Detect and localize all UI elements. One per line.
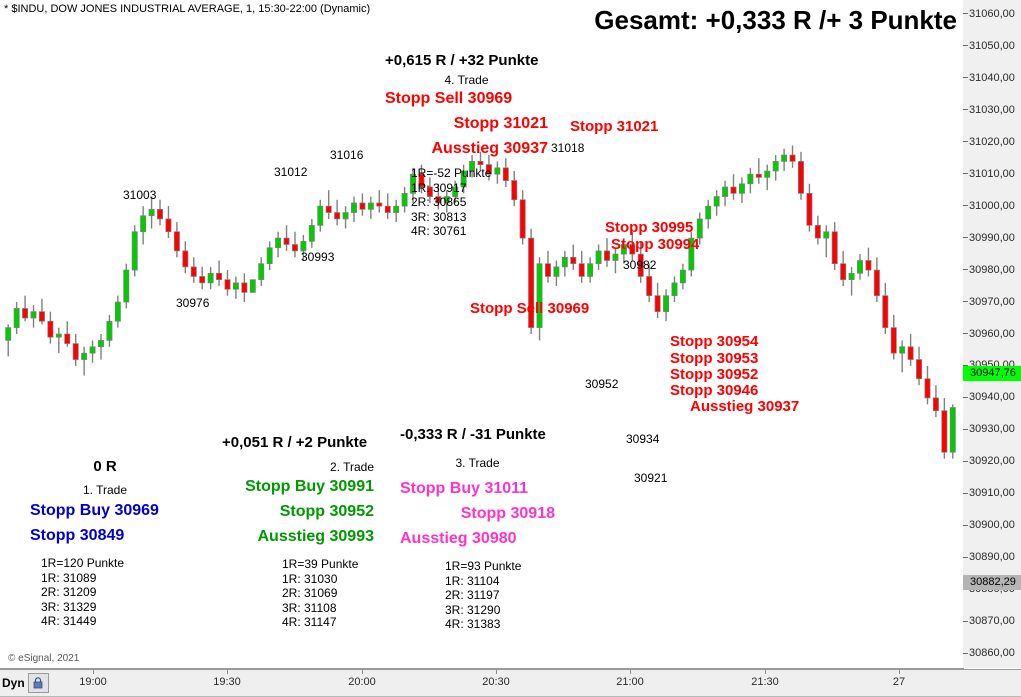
candle-body-up [739,184,744,194]
candle-body-down [647,276,652,295]
trade-4-detail-4: 4R: 30761 [411,224,548,239]
tick-dash [963,237,968,238]
candle-body-up [31,312,36,318]
price-callout-label: 31016 [330,148,363,162]
price-axis-tick: 31060,00 [963,8,1021,21]
copyright-label: © eSignal, 2021 [8,653,79,664]
candle-wick [58,328,59,354]
trade-2-line-1: Stopp 30952 [222,503,374,521]
trade-annotation-3: -0,333 R / -31 Punkte 3. Trade Stopp Buy… [400,426,555,632]
price-callout-label: 30934 [626,432,659,446]
trade-annotation-4: +0,615 R / +32 Punkte 4. Trade Stopp Sel… [385,52,548,239]
candle-body-down [933,398,938,411]
price-axis-tick: 30860,00 [963,647,1021,660]
time-axis-tick-label: 20:00 [348,676,376,688]
time-axis-tick-label: 27 [893,676,905,688]
candle-body-up [680,270,685,283]
trade-1-detail-3: 3R: 31329 [41,600,180,615]
chart-marker-label: Stopp 30953 [670,350,758,367]
price-axis-tick: 30990,00 [963,232,1021,245]
time-axis-tick-label: 21:30 [751,676,779,688]
candle-body-up [275,238,280,248]
trade-4-result: +0,615 R / +32 Punkte [385,52,548,69]
tick-dash [963,621,968,622]
candle-body-up [857,260,862,273]
candle-body-up [98,340,103,346]
trade-4-detail-3: 3R: 30813 [411,210,548,225]
trade-3-line-1: Stopp 30918 [400,505,555,523]
candle-body-up [900,347,905,353]
candle-body-down [39,312,44,322]
trade-1-line-0: Stopp Buy 30969 [30,502,180,520]
trade-3-line-2: Ausstieg 30980 [400,530,555,548]
candle-body-up [537,264,542,328]
chart-marker-label: Stopp 30954 [670,333,758,350]
price-axis-tick: 30900,00 [963,519,1021,532]
price-axis-tick-label: 31030,00 [969,104,1015,116]
price-axis-tick-label: 30920,00 [969,455,1015,467]
time-axis-tick: 27 [879,676,919,688]
candle-wick [379,190,380,212]
candle-body-down [916,360,921,379]
trade-4-line-2: Ausstieg 30937 [385,140,548,158]
trade-3-result: -0,333 R / -31 Punkte [400,426,555,443]
candle-body-down [216,273,221,279]
candle-body-down [157,209,162,219]
candle-body-down [874,270,879,296]
trade-annotation-2: +0,051 R / +2 Punkte 2. Trade Stopp Buy … [222,434,374,630]
tick-dash [963,269,968,270]
candle-body-down [377,203,382,206]
candle-body-up [596,251,601,264]
trade-3-number: 3. Trade [400,456,555,470]
price-axis-tick-label: 30860,00 [969,647,1015,659]
trade-2-line-2: Ausstieg 30993 [222,528,374,546]
tick-dash [963,397,968,398]
candle-body-down [756,174,761,177]
candle-body-down [807,193,812,225]
chart-marker-label: Ausstieg 30937 [690,398,799,415]
candle-body-up [318,206,323,225]
tick-dash [963,141,968,142]
price-axis-tick-label: 31060,00 [969,8,1015,20]
tick-mark [362,670,363,674]
tick-dash [963,109,968,110]
price-callout-label: 30952 [585,377,618,391]
candle-body-down [65,334,70,344]
candle-body-up [782,155,787,161]
candle-body-up [82,353,87,359]
price-axis-tick-label: 30990,00 [969,232,1015,244]
price-callout-label: 30982 [623,258,656,272]
trade-2-detail-2: 2R: 31069 [282,586,374,601]
trade-3-detail-0: 1R=93 Punkte [445,559,555,574]
trade-annotation-1: 0 R 1. Trade Stopp Buy 30969 Stopp 30849… [30,458,180,629]
candle-body-down [942,411,947,453]
candle-body-down [579,264,584,277]
trade-4-line-0: Stopp Sell 30969 [385,90,548,108]
candle-body-up [663,296,668,312]
candle-body-up [149,209,154,215]
candle-body-up [950,408,955,453]
candle-body-down [908,347,913,360]
candle-body-down [841,264,846,280]
chart-marker-label: Stopp 30995 [605,219,693,236]
price-axis-tick: 30910,00 [963,487,1021,500]
price-axis-tick: 30980,00 [963,264,1021,277]
price-axis-tick: 31040,00 [963,72,1021,85]
tick-mark [227,670,228,674]
trade-3-detail-2: 2R: 31197 [445,588,555,603]
candle-wick [83,347,84,376]
candle-body-up [672,283,677,296]
trade-1-detail-1: 1R: 31089 [41,571,180,586]
trade-1-line-1: Stopp 30849 [30,527,180,545]
candle-body-down [326,206,331,212]
candle-body-up [124,270,129,302]
tick-mark [630,670,631,674]
candle-body-up [250,280,255,293]
candle-body-up [107,321,112,340]
price-axis-tick: 30940,00 [963,391,1021,404]
chart-marker-label: Stopp 30946 [670,382,758,399]
time-axis-tick: 21:00 [610,676,650,688]
tick-mark [765,670,766,674]
trade-4-detail-0: 1R=-52 Punkte [411,166,548,181]
lock-icon[interactable] [28,673,49,693]
candle-body-up [14,308,19,327]
time-axis-tick: 20:30 [476,676,516,688]
time-axis-tick-label: 19:00 [79,676,107,688]
price-callout-label: 30993 [301,250,334,264]
candle-body-down [242,283,247,293]
candle-body-down [48,321,53,337]
trade-1-detail-0: 1R=120 Punkte [41,556,180,571]
candle-wick [851,267,852,296]
trade-2-line-0: Stopp Buy 30991 [222,478,374,496]
tick-dash [963,45,968,46]
candle-body-down [798,161,803,193]
time-axis-tick-label: 20:30 [482,676,510,688]
time-axis-tick: 21:30 [745,676,785,688]
current-price-label[interactable]: 30947,76 [963,366,1021,381]
candle-body-down [335,213,340,219]
candle-body-up [141,216,146,232]
tick-dash [963,173,968,174]
trade-2-detail-3: 3R: 31108 [282,601,374,616]
candle-body-down [655,296,660,312]
price-axis-tick-label: 30980,00 [969,264,1015,276]
trade-2-number: 2. Trade [222,460,374,474]
candle-body-down [571,257,576,263]
price-callout-label: 31018 [551,141,584,155]
candle-body-down [545,264,550,277]
price-axis-tick: 30920,00 [963,455,1021,468]
tick-dash [963,653,968,654]
trade-2-detail-4: 4R: 31147 [282,615,374,630]
price-axis-tick: 31030,00 [963,104,1021,117]
candle-body-down [292,245,297,251]
price-axis-tick: 30890,00 [963,551,1021,564]
trade-4-number: 4. Trade [385,73,548,87]
candle-body-down [731,187,736,193]
candle-body-down [22,308,27,318]
tick-dash [963,333,968,334]
price-axis[interactable]: 31060,0031050,0031040,0031030,0031020,00… [963,0,1021,668]
price-axis-tick: 30960,00 [963,328,1021,341]
candle-body-down [790,155,795,161]
tick-mark [93,670,94,674]
candle-body-up [748,174,753,184]
price-axis-tick: 31020,00 [963,136,1021,149]
candle-body-up [309,225,314,241]
candle-body-up [765,171,770,177]
trade-4-detail-2: 2R: 30865 [411,195,548,210]
candle-body-down [925,379,930,398]
time-axis-tick: 19:00 [73,676,113,688]
candle-body-up [56,334,61,337]
price-axis-tick-label: 30930,00 [969,423,1015,435]
tick-dash [963,525,968,526]
candle-body-up [613,254,618,260]
chart-marker-label: Stopp 30994 [611,236,699,253]
tick-dash [963,429,968,430]
dyn-label: Dyn [2,676,25,690]
candle-body-down [883,296,888,328]
trade-2-detail-0: 1R=39 Punkte [282,557,374,572]
candle-body-down [183,251,188,267]
candle-body-down [191,267,196,277]
price-callout-label: 31003 [123,188,156,202]
candle-body-down [832,232,837,264]
candle-body-up [115,302,120,321]
trade-1-detail-4: 4R: 31449 [41,614,180,629]
tick-dash [963,557,968,558]
price-axis-tick-label: 30910,00 [969,487,1015,499]
price-axis-tick-label: 31020,00 [969,136,1015,148]
price-axis-tick: 31000,00 [963,200,1021,213]
tick-dash [963,205,968,206]
time-axis-tick: 20:00 [342,676,382,688]
time-axis-tick-label: 19:30 [213,676,241,688]
candle-body-up [849,273,854,279]
candle-body-up [773,161,778,171]
time-axis[interactable]: Dyn 19:0019:3020:0020:3021:0021:3027 [0,669,1021,697]
time-axis-tick: 19:30 [207,676,247,688]
candle-wick [328,190,329,219]
candle-body-down [360,203,365,209]
price-axis-tick: 31050,00 [963,40,1021,53]
total-result-label: Gesamt: +0,333 R /+ 3 Punkte [594,5,957,36]
candle-wick [758,158,759,184]
candle-body-up [714,197,719,207]
trade-1-detail-2: 2R: 31209 [41,585,180,600]
candle-body-up [588,264,593,277]
candle-body-up [824,232,829,238]
price-axis-tick: 30870,00 [963,615,1021,628]
candle-body-down [200,276,205,282]
candle-body-down [284,238,289,244]
price-callout-label: 30921 [634,471,667,485]
trade-2-detail-1: 1R: 31030 [282,572,374,587]
price-callout-label: 30976 [176,296,209,310]
candle-body-up [259,264,264,280]
candle-body-up [208,273,213,283]
chart-marker-label: Stopp 31021 [570,118,658,135]
candle-body-down [866,260,871,270]
candle-body-down [166,219,171,232]
price-axis-tick-label: 30940,00 [969,391,1015,403]
trade-3-line-0: Stopp Buy 31011 [400,480,555,498]
tick-dash [963,493,968,494]
candle-body-down [815,225,820,238]
tick-dash [963,461,968,462]
price-axis-tick: 30930,00 [963,423,1021,436]
price-axis-tick-label: 30960,00 [969,328,1015,340]
lock-glyph [33,677,43,689]
tick-mark [496,670,497,674]
candle-body-up [722,187,727,197]
symbol-title: * $INDU, DOW JONES INDUSTRIAL AVERAGE, 1… [4,3,370,15]
trade-1-result: 0 R [30,458,180,475]
price-axis-tick-label: 30900,00 [969,519,1015,531]
price-axis-tick-label: 30870,00 [969,615,1015,627]
candle-body-down [174,232,179,251]
trade-4-detail-1: 1R: 30917 [411,181,548,196]
trade-1-number: 1. Trade [30,483,180,497]
trade-3-detail-3: 3R: 31290 [445,603,555,618]
candle-body-up [706,206,711,219]
trade-3-detail-1: 1R: 31104 [445,574,555,589]
price-axis-tick-label: 30970,00 [969,296,1015,308]
price-axis-tick: 31010,00 [963,168,1021,181]
candle-body-up [132,232,137,270]
tick-dash [963,301,968,302]
dyn-toolbar[interactable]: Dyn [2,672,49,693]
price-axis-tick-label: 30890,00 [969,551,1015,563]
chart-marker-label: Stopp Sell 30969 [470,300,589,317]
previous-close-label[interactable]: 30882,29 [963,575,1021,590]
price-axis-tick-label: 31000,00 [969,200,1015,212]
price-axis-tick: 30970,00 [963,296,1021,309]
candle-body-up [554,267,559,277]
candle-body-up [562,257,567,267]
price-axis-tick-label: 31010,00 [969,168,1015,180]
candle-body-down [604,251,609,261]
candle-body-up [267,248,272,264]
trade-3-detail-4: 4R: 31383 [445,617,555,632]
tick-dash [963,77,968,78]
price-axis-tick-label: 31050,00 [969,40,1015,52]
candle-body-down [73,344,78,360]
candle-body-up [368,203,373,209]
candle-body-down [225,280,230,290]
candle-body-up [343,213,348,219]
trade-4-line-1: Stopp 31021 [385,115,548,133]
time-axis-tick-label: 21:00 [616,676,644,688]
trade-2-result: +0,051 R / +2 Punkte [222,434,374,451]
candle-wick [901,340,902,372]
candle-body-up [6,328,11,341]
candle-wick [826,225,827,257]
candle-body-up [233,283,238,289]
candle-body-up [90,347,95,353]
candle-body-down [891,328,896,354]
tick-dash [963,13,968,14]
price-callout-label: 31012 [274,165,307,179]
chart-marker-label: Stopp 30952 [670,366,758,383]
price-axis-tick-label: 31040,00 [969,72,1015,84]
tick-mark [899,670,900,674]
candle-body-up [351,203,356,213]
